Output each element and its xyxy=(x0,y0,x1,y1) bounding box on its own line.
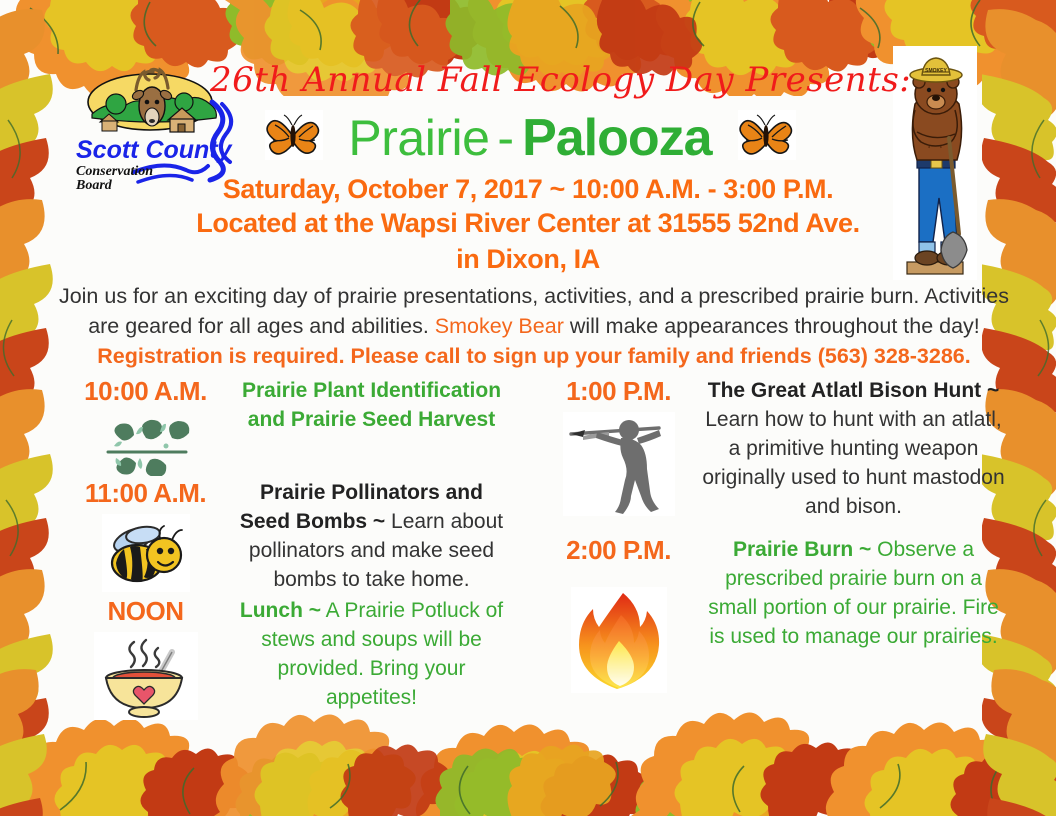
title-dash: - xyxy=(495,109,516,167)
intro-paragraph: Join us for an exciting day of prairie p… xyxy=(58,281,1010,371)
schedule-description: Prairie Pollinators and Seed Bombs ~ Lea… xyxy=(233,478,510,594)
bee-icon xyxy=(58,514,233,592)
atlatl-thrower-icon xyxy=(536,412,701,516)
schedule-time-block: 1:00 P.M. xyxy=(536,376,701,516)
schedule-column-left: 10:00 A.M. xyxy=(58,376,510,722)
poster-content: Scott County Conservation Board xyxy=(0,0,1056,816)
schedule-item-noon: NOON xyxy=(58,596,510,720)
schedule-description: The Great Atlatl Bison Hunt ~ Learn how … xyxy=(701,376,1006,521)
soup-bowl-icon xyxy=(58,632,233,720)
schedule-heading: Prairie Plant Identification and Prairie… xyxy=(242,379,501,431)
schedule-body: Learn how to hunt with an atlatl, a prim… xyxy=(702,408,1004,518)
schedule-time: NOON xyxy=(58,596,233,626)
schedule-time-block: NOON xyxy=(58,596,233,720)
schedule-time-block: 2:00 P.M. xyxy=(536,535,701,693)
intro-smokey-bear: Smokey Bear xyxy=(435,314,564,338)
logo-title-text: Scott County xyxy=(76,136,233,164)
svg-text:SMOKEY: SMOKEY xyxy=(925,68,947,74)
flame-icon xyxy=(536,587,701,693)
page-title: Prairie - Palooza xyxy=(260,108,800,168)
event-datetime-line: Saturday, October 7, 2017 ~ 10:00 A.M. -… xyxy=(0,174,1056,205)
schedule-description: Prairie Burn ~ Observe a prescribed prai… xyxy=(701,535,1006,651)
schedule-time: 1:00 P.M. xyxy=(536,376,701,406)
schedule-item-10am: 10:00 A.M. xyxy=(58,376,510,476)
schedule-heading: The Great Atlatl Bison Hunt ~ xyxy=(708,379,1000,402)
schedule-time: 2:00 P.M. xyxy=(536,535,701,565)
schedule-description: Lunch ~ A Prairie Potluck of stews and s… xyxy=(233,596,510,712)
intro-part2: will make appearances throughout the day… xyxy=(564,314,980,338)
poster-canvas: Scott County Conservation Board xyxy=(0,0,1056,816)
schedule-item-11am: 11:00 A.M. xyxy=(58,478,510,594)
schedule-heading: Prairie Burn ~ xyxy=(733,538,871,561)
event-city-line: in Dixon, IA xyxy=(0,244,1056,275)
leaf-branch-icon xyxy=(58,412,233,476)
title-word-palooza: Palooza xyxy=(522,108,712,168)
schedule-time: 11:00 A.M. xyxy=(58,478,233,508)
schedule-item-1pm: 1:00 P.M. xyxy=(536,376,1006,521)
schedule-heading: Lunch ~ xyxy=(240,599,321,622)
title-word-prairie: Prairie xyxy=(348,109,489,167)
schedule-column-right: 1:00 P.M. xyxy=(536,376,1006,695)
schedule-time-block: 10:00 A.M. xyxy=(58,376,233,476)
event-location-line: Located at the Wapsi River Center at 315… xyxy=(0,208,1056,239)
schedule-time-block: 11:00 A.M. xyxy=(58,478,233,592)
script-event-title: 26th Annual Fall Ecology Day Presents: xyxy=(210,60,870,100)
schedule-item-2pm: 2:00 P.M. xyxy=(536,535,1006,693)
schedule-time: 10:00 A.M. xyxy=(58,376,233,406)
registration-notice: Registration is required. Please call to… xyxy=(97,344,970,368)
schedule-description: Prairie Plant Identification and Prairie… xyxy=(233,376,510,434)
